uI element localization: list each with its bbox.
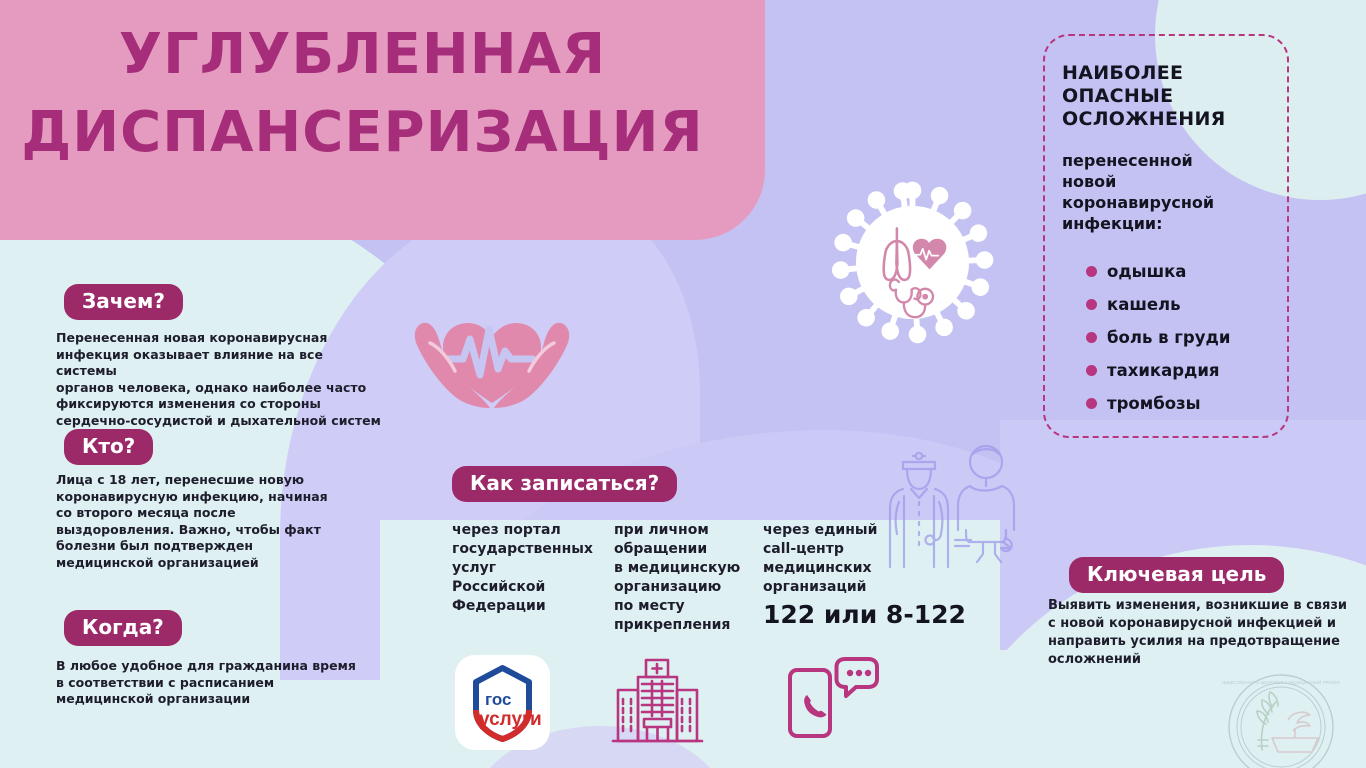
section-label-who: Кто?	[64, 429, 153, 465]
organization-seal-watermark: ЦЕНТР ОБЩЕСТВЕННОГО ЗДОРОВЬЯ И МЕДИЦИНСК…	[1222, 672, 1340, 768]
section-text-when: В любое удобное для гражданина время в с…	[56, 658, 386, 708]
list-item: боль в груди	[1086, 328, 1230, 347]
section-label-why: Зачем?	[64, 284, 183, 320]
complication-label: тахикардия	[1107, 361, 1220, 380]
bullet-icon	[1086, 398, 1097, 409]
signup-option-call-center: через единый call-центр медицинских орга…	[763, 521, 913, 597]
complication-label: кашель	[1107, 295, 1181, 314]
gosuslugi-text-line1: гос	[485, 690, 511, 709]
signup-option-portal: через портал государственных услуг Росси…	[452, 521, 602, 616]
phone-call-chat-icon	[783, 648, 883, 743]
section-text-goal: Выявить изменения, возникшие в связи с н…	[1048, 597, 1360, 669]
complication-label: боль в груди	[1107, 328, 1230, 347]
complications-subheading: перенесенной новой коронавирусной инфекц…	[1062, 150, 1277, 234]
bullet-icon	[1086, 332, 1097, 343]
list-item: тромбозы	[1086, 394, 1230, 413]
infographic-poster: УГЛУБЛЕННАЯ ДИСПАНСЕРИЗАЦИЯ	[0, 0, 1366, 768]
section-label-when: Когда?	[64, 610, 182, 646]
bullet-icon	[1086, 365, 1097, 376]
gosuslugi-text-line2: услуги	[479, 709, 542, 730]
svg-text:ЦЕНТР ОБЩЕСТВЕННОГО ЗДОРОВЬЯ И: ЦЕНТР ОБЩЕСТВЕННОГО ЗДОРОВЬЯ И МЕДИЦИНСК…	[1222, 680, 1340, 685]
title-banner: УГЛУБЛЕННАЯ ДИСПАНСЕРИЗАЦИЯ	[0, 0, 765, 240]
bullet-icon	[1086, 299, 1097, 310]
bullet-icon	[1086, 266, 1097, 277]
gosuslugi-logo[interactable]: гос услуги	[455, 655, 550, 750]
virus-icon	[815, 165, 1010, 360]
list-item: тахикардия	[1086, 361, 1230, 380]
complications-list: одышка кашель боль в груди тахикардия тр…	[1086, 262, 1230, 427]
call-center-phone-number: 122 или 8-122	[763, 600, 966, 629]
complication-label: одышка	[1107, 262, 1186, 281]
section-label-signup: Как записаться?	[452, 466, 677, 502]
complication-label: тромбозы	[1107, 394, 1201, 413]
section-label-goal: Ключевая цель	[1069, 557, 1284, 593]
signup-option-in-person: при личном обращении в медицинскую орган…	[614, 521, 754, 635]
hands-holding-heart-icon	[385, 285, 600, 410]
complications-heading: НАИБОЛЕЕ ОПАСНЫЕ ОСЛОЖНЕНИЯ	[1062, 62, 1272, 131]
section-text-why: Перенесенная новая коронавирусная инфекц…	[56, 330, 386, 429]
page-title-line1: УГЛУБЛЕННАЯ	[0, 22, 765, 87]
list-item: кашель	[1086, 295, 1230, 314]
section-text-who: Лица с 18 лет, перенесшие новую коронави…	[56, 472, 386, 571]
page-title-line2: ДИСПАНСЕРИЗАЦИЯ	[0, 100, 765, 165]
list-item: одышка	[1086, 262, 1230, 281]
hospital-building-icon	[605, 655, 710, 750]
